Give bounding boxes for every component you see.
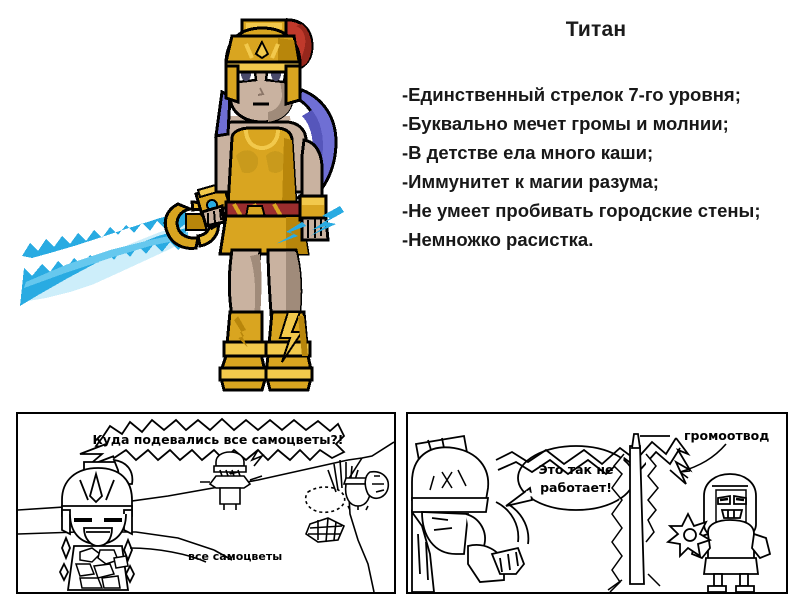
trait-item: -Буквально мечет громы и молнии; xyxy=(402,109,772,138)
meme-page: Титан -Единственный стрелок 7-го уровня;… xyxy=(0,0,800,600)
shout-bubble: Куда подевались все самоцветы?! xyxy=(80,419,344,466)
rod-label-pointer xyxy=(680,444,726,478)
trait-item: -Единственный стрелок 7-го уровня; xyxy=(402,80,772,109)
trait-list: -Единственный стрелок 7-го уровня; -Букв… xyxy=(402,80,772,254)
page-title: Титан xyxy=(396,18,796,42)
trait-item: -Немножко расистка. xyxy=(402,225,772,254)
lightning-sword xyxy=(20,212,188,306)
titan-chibi-side xyxy=(412,436,528,592)
gem-label: все самоцветы xyxy=(188,550,282,563)
character-info: Титан -Единственный стрелок 7-го уровня;… xyxy=(396,8,796,398)
boots xyxy=(220,312,312,390)
empty-gem-outline xyxy=(306,487,345,512)
smug-chibi xyxy=(668,474,770,592)
rod-label: громоотвод xyxy=(684,428,769,443)
comic-panel-lightning-rod: Это так не работает! xyxy=(406,412,788,594)
panel-rod-art: Это так не работает! xyxy=(408,414,786,592)
shout-text: Куда подевались все самоцветы?! xyxy=(93,432,344,447)
speech-bubble: Это так не работает! xyxy=(506,446,634,510)
trait-item: -В детстве ела много каши; xyxy=(402,138,772,167)
scenery-objects xyxy=(306,460,389,542)
titan-chibi xyxy=(60,460,134,590)
trait-item: -Не умеет пробивать городские стены; xyxy=(402,196,772,225)
panel-gems-art: Куда подевались все самоцветы?! xyxy=(18,414,394,592)
titan-warrior-sprite xyxy=(10,6,390,401)
trait-item: -Иммунитет к магии разума; xyxy=(402,167,772,196)
comic-panel-gems: Куда подевались все самоцветы?! xyxy=(16,412,396,594)
bubble-line-2: работает! xyxy=(540,480,612,495)
character-illustration xyxy=(10,6,390,401)
